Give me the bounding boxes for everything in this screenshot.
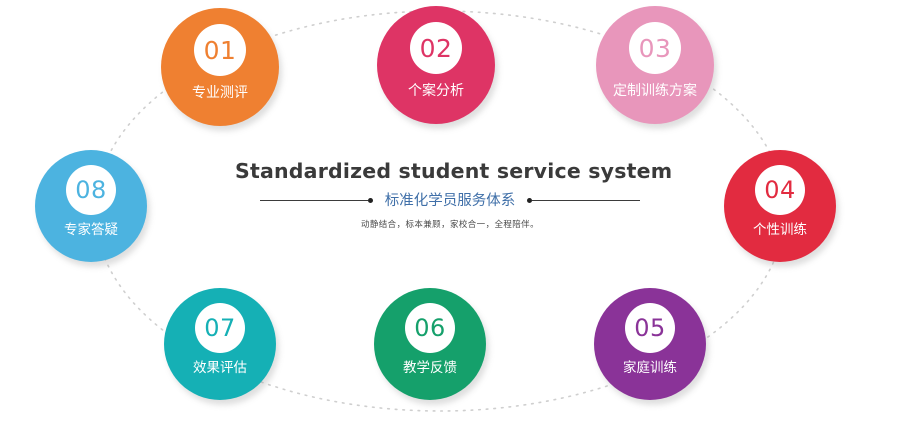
node-number-badge-01: 01 [194,24,246,76]
node-label-03: 定制训练方案 [613,84,697,98]
title-chinese: 标准化学员服务体系 [373,194,528,209]
node-number-07: 07 [204,316,236,340]
node-circle-02[interactable]: 02个案分析 [377,6,495,124]
center-heading-block: Standardized student service system 标准化学… [235,160,665,230]
node-label-06: 教学反馈 [403,362,457,376]
node-number-badge-04: 04 [755,165,805,215]
node-circle-03[interactable]: 03定制训练方案 [596,6,714,124]
node-label-04: 个性训练 [753,224,807,238]
node-number-05: 05 [634,316,666,340]
node-label-02: 个案分析 [408,84,464,98]
node-number-badge-08: 08 [66,165,116,215]
node-number-badge-05: 05 [625,303,675,353]
title-english: Standardized student service system [235,160,665,183]
infographic-canvas: 01专业测评02个案分析03定制训练方案04个性训练05家庭训练06教学反馈07… [0,0,900,421]
node-label-08: 专家答疑 [64,224,118,238]
node-circle-01[interactable]: 01专业测评 [161,8,279,126]
divider-line-left [260,200,368,201]
node-number-04: 04 [764,178,796,202]
node-label-05: 家庭训练 [623,362,677,376]
divider-line-right [532,200,640,201]
divider-row: 标准化学员服务体系 [235,194,665,209]
node-circle-06[interactable]: 06教学反馈 [374,288,486,400]
node-number-06: 06 [414,316,446,340]
node-number-02: 02 [420,36,453,61]
node-number-01: 01 [204,38,237,63]
node-number-badge-02: 02 [410,22,462,74]
node-circle-07[interactable]: 07效果评估 [164,288,276,400]
node-label-07: 效果评估 [193,362,247,376]
node-number-badge-07: 07 [195,303,245,353]
node-circle-04[interactable]: 04个性训练 [724,150,836,262]
node-number-badge-03: 03 [629,22,681,74]
node-number-badge-06: 06 [405,303,455,353]
node-circle-08[interactable]: 08专家答疑 [35,150,147,262]
node-number-08: 08 [75,178,107,202]
node-number-03: 03 [639,36,672,61]
node-circle-05[interactable]: 05家庭训练 [594,288,706,400]
node-label-01: 专业测评 [192,86,248,100]
tagline: 动静结合，标本兼顾，家校合一，全程陪伴。 [235,218,665,230]
